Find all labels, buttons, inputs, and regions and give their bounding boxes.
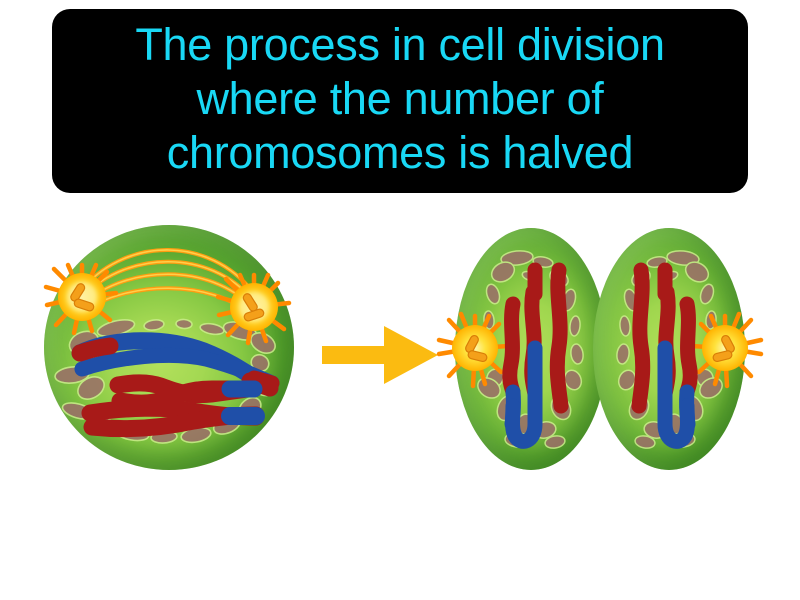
daughter-cell-left	[455, 228, 607, 470]
process-arrow-icon	[322, 324, 440, 386]
centrosome-left	[46, 265, 116, 333]
definition-line-2: where the number of	[196, 72, 603, 126]
parent-cell-contents	[44, 225, 294, 470]
card-canvas: The process in cell division where the n…	[0, 0, 800, 600]
daughter-cell-right-contents	[593, 228, 745, 470]
daughter-cell-left-contents	[455, 228, 607, 470]
chromosomes	[510, 270, 561, 441]
definition-line-3: chromosomes is halved	[167, 126, 633, 180]
definition-line-1: The process in cell division	[135, 18, 664, 72]
parent-cell	[44, 225, 294, 470]
meiosis-illustration	[0, 193, 800, 600]
process-arrow	[322, 324, 440, 386]
chromosomes	[639, 270, 690, 441]
definition-banner: The process in cell division where the n…	[52, 9, 748, 193]
daughter-cell-right	[593, 228, 745, 470]
